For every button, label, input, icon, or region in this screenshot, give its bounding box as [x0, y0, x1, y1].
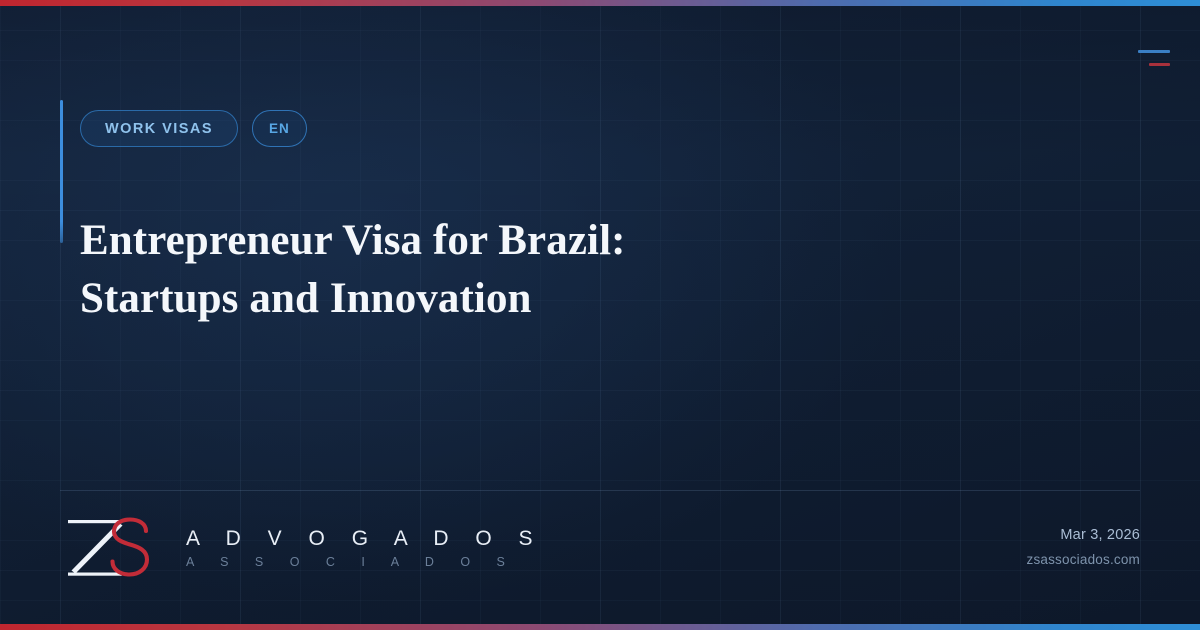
bottom-gradient-rule: [0, 624, 1200, 630]
corner-mark-blue-icon: [1138, 50, 1170, 53]
brand-wordmark: A D V O G A D O S A S S O C I A D O S: [186, 526, 543, 569]
page-title-line-1: Entrepreneur Visa for Brazil:: [80, 212, 780, 270]
headline-accent-bar: [60, 100, 63, 243]
language-badge[interactable]: EN: [252, 110, 307, 147]
brand-lockup: A D V O G A D O S A S S O C I A D O S: [60, 512, 543, 584]
corner-accent-marks: [1126, 46, 1170, 74]
brand-name-primary: A D V O G A D O S: [186, 528, 543, 549]
page-title: Entrepreneur Visa for Brazil: Startups a…: [80, 212, 780, 328]
website-url[interactable]: zsassociados.com: [1027, 552, 1141, 567]
page-title-line-2: Startups and Innovation: [80, 270, 780, 328]
zs-monogram-icon: [60, 512, 168, 584]
top-gradient-rule: [0, 0, 1200, 6]
footer-meta: Mar 3, 2026 zsassociados.com: [1027, 527, 1141, 569]
category-badge[interactable]: WORK VISAS: [80, 110, 238, 147]
brand-name-secondary: A S S O C I A D O S: [186, 556, 543, 569]
footer-divider: [60, 490, 1140, 491]
footer: A D V O G A D O S A S S O C I A D O S Ma…: [60, 505, 1140, 590]
publish-date: Mar 3, 2026: [1027, 527, 1141, 543]
badge-row: WORK VISAS EN: [80, 110, 307, 147]
corner-mark-red-icon: [1149, 63, 1170, 66]
social-share-card: WORK VISAS EN Entrepreneur Visa for Braz…: [0, 0, 1200, 630]
